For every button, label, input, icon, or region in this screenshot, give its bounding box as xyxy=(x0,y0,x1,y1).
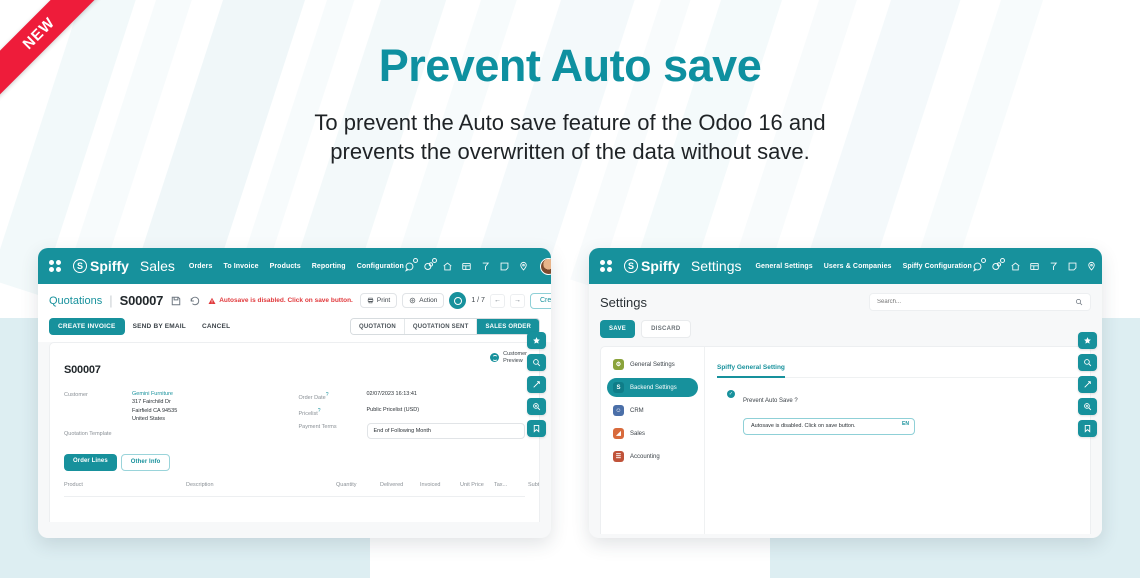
menu-products[interactable]: Products xyxy=(270,263,301,270)
column-invoiced: Invoiced xyxy=(420,482,460,488)
search-icon[interactable] xyxy=(1078,354,1097,371)
note-icon[interactable] xyxy=(1067,261,1078,272)
avatar[interactable] xyxy=(540,258,551,275)
column-quantity: Quantity xyxy=(336,482,380,488)
create-invoice-button[interactable]: CREATE INVOICE xyxy=(49,318,125,335)
customer-preview-line1: Customer xyxy=(503,351,527,358)
settings-header: Settings xyxy=(600,293,1091,311)
send-by-email-button[interactable]: SEND BY EMAIL xyxy=(125,318,194,335)
screenshot-sales-order: S Spiffy Sales Orders To Invoice Product… xyxy=(38,248,551,538)
hero-section: Prevent Auto save To prevent the Auto sa… xyxy=(0,40,1140,166)
sidebar-item-label: Backend Settings xyxy=(630,385,677,391)
spiffy-mark-icon: S xyxy=(624,259,638,273)
pager-next-button[interactable]: → xyxy=(510,294,525,308)
record-sheet: Customer Preview S00007 Customer Gemini … xyxy=(49,342,540,522)
field-customer: Customer Gemini Furniture 317 Fairchild … xyxy=(64,390,295,423)
field-pricelist: Pricelist? Public Pricelist (USD) xyxy=(299,406,526,416)
systray xyxy=(972,258,1102,275)
prevent-auto-save-label: Prevent Auto Save ? xyxy=(743,398,798,404)
customer-name[interactable]: Gemini Furniture xyxy=(132,390,177,398)
expand-icon[interactable] xyxy=(527,376,546,393)
brand-name: Spiffy xyxy=(641,258,680,274)
apps-menu-icon[interactable] xyxy=(600,260,612,272)
column-unit-price: Unit Price xyxy=(460,482,494,488)
column-description: Description xyxy=(186,482,336,488)
pin-icon[interactable] xyxy=(518,261,529,272)
field-order-date: Order Date? 02/07/2023 16:13:41 xyxy=(299,390,526,400)
search-box[interactable] xyxy=(869,293,1091,311)
language-badge[interactable]: EN xyxy=(902,421,909,427)
menu-general-settings[interactable]: General Settings xyxy=(755,263,812,270)
expand-icon[interactable] xyxy=(1078,376,1097,393)
discard-button[interactable]: DISCARD xyxy=(641,320,690,338)
form-column-left: Customer Gemini Furniture 317 Fairchild … xyxy=(64,390,295,445)
sidebar-item-crm[interactable]: ☺ CRM xyxy=(607,401,698,420)
zoom-icon[interactable] xyxy=(1078,398,1097,415)
menu-users-companies[interactable]: Users & Companies xyxy=(824,263,892,270)
customer-address-line2: Fairfield CA 94535 xyxy=(132,407,177,415)
page-title: Prevent Auto save xyxy=(0,40,1140,92)
customer-preview-line2: Preview xyxy=(503,358,527,365)
control-panel: Quotations | S00007 Autosave is disabled… xyxy=(38,284,551,342)
brand-name: Spiffy xyxy=(90,258,129,274)
home-icon[interactable] xyxy=(442,261,453,272)
pin-icon[interactable] xyxy=(1086,261,1097,272)
discard-icon[interactable] xyxy=(189,295,201,307)
save-button[interactable]: SAVE xyxy=(600,320,635,338)
create-button[interactable]: Create xyxy=(530,293,551,309)
print-button[interactable]: Print xyxy=(360,293,397,308)
activities-icon[interactable] xyxy=(991,261,1002,272)
payment-terms-label: Payment Terms xyxy=(299,423,367,439)
settings-actions: SAVE DISCARD xyxy=(600,320,1091,338)
settings-body: Settings SAVE DISCARD ⚙ General Settings… xyxy=(589,284,1102,534)
status-bar: QUOTATION QUOTATION SENT SALES ORDER xyxy=(350,318,540,335)
sidebar-item-sales[interactable]: ◢ Sales xyxy=(607,424,698,443)
note-icon[interactable] xyxy=(499,261,510,272)
screenshot-settings: S Spiffy Settings General Settings Users… xyxy=(589,248,1102,538)
sales-navbar: S Spiffy Sales Orders To Invoice Product… xyxy=(38,248,551,284)
payment-terms-input[interactable]: End of Following Month xyxy=(367,423,526,439)
crm-icon: ☺ xyxy=(613,405,624,416)
star-icon[interactable] xyxy=(1078,332,1097,349)
zoom-icon[interactable] xyxy=(527,398,546,415)
form-column-right: Order Date? 02/07/2023 16:13:41 Pricelis… xyxy=(295,390,526,445)
customer-value: Gemini Furniture 317 Fairchild Dr Fairfi… xyxy=(132,390,177,423)
field-payment-terms: Payment Terms End of Following Month xyxy=(299,423,526,439)
sales-icon: ◢ xyxy=(613,428,624,439)
tab-order-lines[interactable]: Order Lines xyxy=(64,454,117,471)
pager-previous-button[interactable]: ← xyxy=(490,294,505,308)
pager[interactable]: 1 / 7 xyxy=(471,297,485,304)
general-settings-icon: ⚙ xyxy=(613,359,624,370)
home-icon[interactable] xyxy=(1010,261,1021,272)
autosave-warning-text: Autosave is disabled. Click on save butt… xyxy=(219,297,353,304)
quotation-template-label: Quotation Template xyxy=(64,429,132,437)
systray xyxy=(404,258,551,275)
messages-icon[interactable] xyxy=(972,261,983,272)
menu-to-invoice[interactable]: To Invoice xyxy=(223,263,258,270)
autosave-message-input[interactable] xyxy=(743,418,915,435)
setting-prevent-auto-save: ✓ Prevent Auto Save ? EN xyxy=(717,389,1078,435)
setting-body: Prevent Auto Save ? EN xyxy=(743,389,915,435)
search-input[interactable] xyxy=(877,299,1070,305)
record-title: S00007 xyxy=(64,364,525,376)
breadcrumb-current: S00007 xyxy=(120,293,164,308)
save-icon[interactable] xyxy=(170,295,182,307)
left-floating-toolbar xyxy=(527,332,546,437)
settings-sidebar: ⚙ General Settings S Backend Settings ☺ … xyxy=(601,347,705,534)
warning-icon xyxy=(208,297,216,305)
autosave-message-field: EN xyxy=(743,414,915,435)
right-floating-toolbar xyxy=(1078,332,1097,437)
status-quotation[interactable]: QUOTATION xyxy=(351,319,404,334)
star-icon[interactable] xyxy=(527,332,546,349)
sidebar-item-label: Accounting xyxy=(630,454,660,460)
tab-other-info[interactable]: Other Info xyxy=(121,454,171,471)
customer-address-line3: United States xyxy=(132,415,177,423)
column-product: Product xyxy=(64,482,186,488)
settings-main: Spiffy General Setting ✓ Prevent Auto Sa… xyxy=(705,347,1090,534)
pricelist-value[interactable]: Public Pricelist (USD) xyxy=(367,406,420,416)
globe-icon xyxy=(490,353,499,362)
sidebar-item-label: Sales xyxy=(630,431,645,437)
control-panel-actions: Print Action 1 / 7 ← → Create xyxy=(360,292,551,309)
field-quotation-template: Quotation Template xyxy=(64,429,295,437)
order-date-value: 02/07/2023 16:13:41 xyxy=(367,390,417,400)
order-date-label: Order Date? xyxy=(299,390,367,400)
action-button[interactable]: Action xyxy=(402,293,444,308)
action-label: Action xyxy=(419,297,437,304)
grid-icon[interactable] xyxy=(461,261,472,272)
notebook-tabs: Order Lines Other Info xyxy=(64,454,525,471)
menu-reporting[interactable]: Reporting xyxy=(312,263,346,270)
status-quotation-sent[interactable]: QUOTATION SENT xyxy=(404,319,477,334)
pricelist-label: Pricelist? xyxy=(299,406,367,416)
sidebar-item-general-settings[interactable]: ⚙ General Settings xyxy=(607,355,698,374)
brand-logo[interactable]: S Spiffy xyxy=(624,258,680,274)
customer-address-line1: 317 Fairchild Dr xyxy=(132,398,177,406)
breadcrumb-separator: | xyxy=(109,293,112,308)
statusbar-row: CREATE INVOICE SEND BY EMAIL CANCEL QUOT… xyxy=(49,318,540,342)
menu-configuration[interactable]: Configuration xyxy=(357,263,404,270)
column-tax: Tax... xyxy=(494,482,528,488)
breadcrumb-row: Quotations | S00007 Autosave is disabled… xyxy=(49,292,540,309)
customer-label: Customer xyxy=(64,390,132,423)
settings-page-title: Settings xyxy=(600,295,647,310)
page-subtitle: To prevent the Auto save feature of the … xyxy=(0,108,1140,166)
spiffy-mark-icon: S xyxy=(73,259,87,273)
customer-preview-label: Customer Preview xyxy=(503,351,527,365)
column-subtotal: Subtotal xyxy=(528,482,540,488)
autosave-warning: Autosave is disabled. Click on save butt… xyxy=(208,297,353,305)
record-status-button[interactable] xyxy=(449,292,466,309)
brand-logo[interactable]: S Spiffy xyxy=(73,258,129,274)
backend-settings-icon: S xyxy=(613,382,624,393)
accounting-icon: ☰ xyxy=(613,451,624,462)
customer-preview-button[interactable]: Customer Preview xyxy=(490,351,527,365)
subtitle-line-1: To prevent the Auto save feature of the … xyxy=(0,108,1140,137)
grid-icon[interactable] xyxy=(1029,261,1040,272)
apps-menu-icon[interactable] xyxy=(49,260,61,272)
breadcrumb-parent[interactable]: Quotations xyxy=(49,295,102,307)
activities-icon[interactable] xyxy=(423,261,434,272)
messages-icon[interactable] xyxy=(404,261,415,272)
sidebar-item-label: General Settings xyxy=(630,362,675,368)
megaphone-icon[interactable] xyxy=(1048,261,1059,272)
menu-bar: General Settings Users & Companies Spiff… xyxy=(755,263,971,270)
settings-navbar: S Spiffy Settings General Settings Users… xyxy=(589,248,1102,284)
menu-bar: Orders To Invoice Products Reporting Con… xyxy=(189,263,404,270)
megaphone-icon[interactable] xyxy=(480,261,491,272)
order-lines-body xyxy=(64,497,525,522)
menu-spiffy-configuration[interactable]: Spiffy Configuration xyxy=(903,263,972,270)
sidebar-item-label: CRM xyxy=(630,408,644,414)
print-label: Print xyxy=(377,297,390,304)
bookmark-icon[interactable] xyxy=(1078,420,1097,437)
app-name: Settings xyxy=(691,258,742,274)
section-title: Spiffy General Setting xyxy=(717,364,785,378)
sidebar-item-backend-settings[interactable]: S Backend Settings xyxy=(607,378,698,397)
search-icon[interactable] xyxy=(527,354,546,371)
form-grid: Customer Gemini Furniture 317 Fairchild … xyxy=(64,390,525,445)
settings-content: ⚙ General Settings S Backend Settings ☺ … xyxy=(600,346,1091,534)
sidebar-item-accounting[interactable]: ☰ Accounting xyxy=(607,447,698,466)
order-lines-header: Product Description Quantity Delivered I… xyxy=(64,481,525,497)
search-icon xyxy=(1075,298,1083,306)
menu-orders[interactable]: Orders xyxy=(189,263,213,270)
column-delivered: Delivered xyxy=(380,482,420,488)
app-name: Sales xyxy=(140,258,175,274)
cancel-button[interactable]: CANCEL xyxy=(194,318,238,335)
bookmark-icon[interactable] xyxy=(527,420,546,437)
subtitle-line-2: prevents the overwritten of the data wit… xyxy=(0,137,1140,166)
prevent-auto-save-checkbox[interactable]: ✓ xyxy=(727,390,735,398)
